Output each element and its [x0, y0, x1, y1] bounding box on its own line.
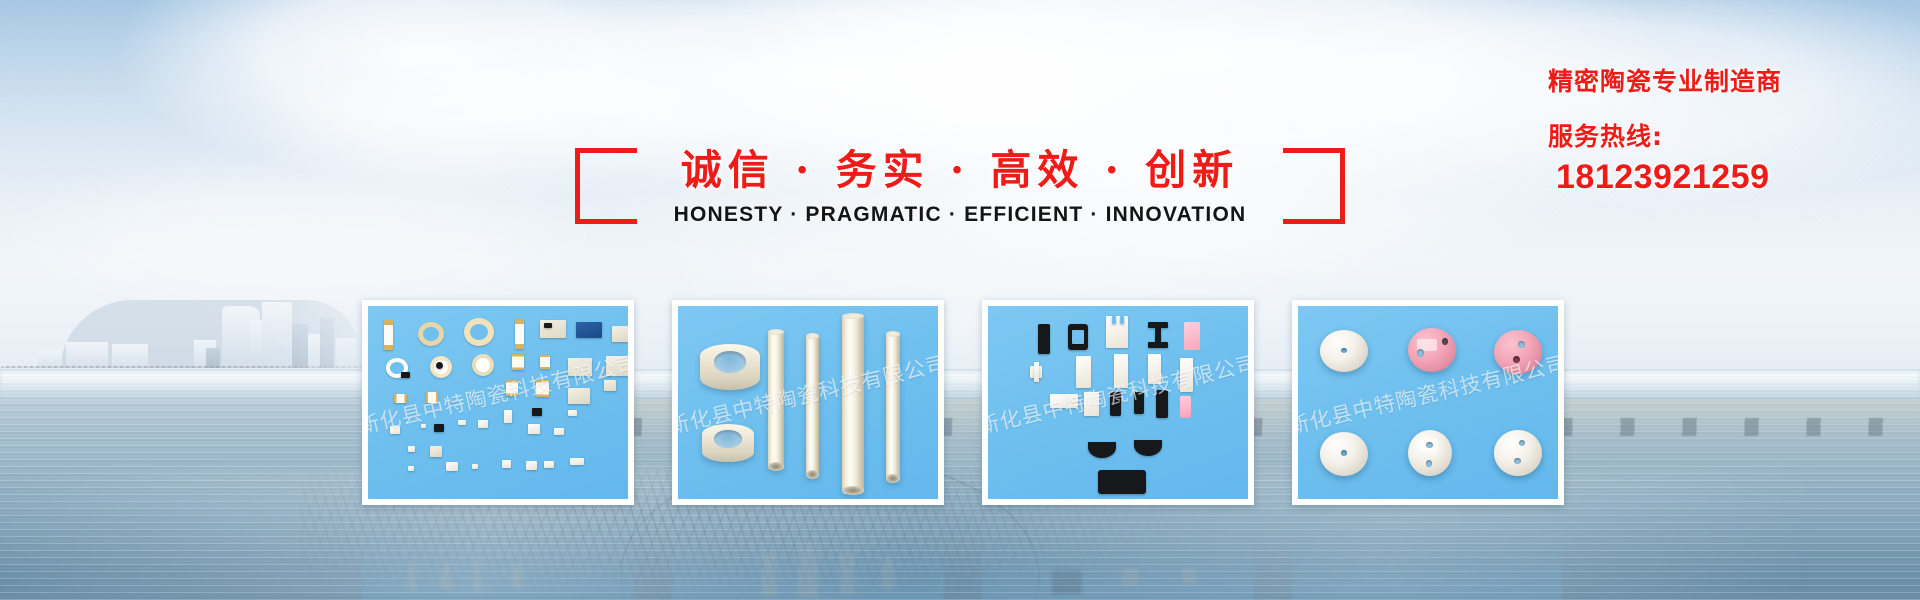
product-panel-2[interactable]: 新化县中特陶瓷科技有限公司	[672, 300, 944, 505]
product-panel-1[interactable]: 新化县中特陶瓷科技有限公司	[362, 300, 634, 505]
product-panel-row: 新化县中特陶瓷科技有限公司 新化县中特陶瓷科技有限公司	[362, 300, 1562, 505]
hotline-number[interactable]: 18123921259	[1556, 158, 1848, 197]
hero-banner: 诚信 · 务实 · 高效 · 创新 HONESTY · PRAGMATIC · …	[0, 0, 1920, 600]
contact-block: 精密陶瓷专业制造商 服务热线: 18123921259	[1548, 62, 1848, 197]
company-tagline: 精密陶瓷专业制造商	[1548, 62, 1848, 98]
city-skyline	[0, 268, 420, 378]
product-photo-3: 新化县中特陶瓷科技有限公司	[988, 306, 1248, 499]
slogan-block: 诚信 · 务实 · 高效 · 创新 HONESTY · PRAGMATIC · …	[575, 140, 1345, 240]
product-panel-4[interactable]: 新化县中特陶瓷科技有限公司	[1292, 300, 1564, 505]
slogan-english: HONESTY · PRAGMATIC · EFFICIENT · INNOVA…	[575, 203, 1345, 227]
hotline-label: 服务热线:	[1548, 117, 1848, 153]
product-photo-2: 新化县中特陶瓷科技有限公司	[678, 306, 938, 499]
product-photo-4: 新化县中特陶瓷科技有限公司	[1298, 306, 1558, 499]
product-panel-3[interactable]: 新化县中特陶瓷科技有限公司	[982, 300, 1254, 505]
slogan-chinese: 诚信 · 务实 · 高效 · 创新	[575, 136, 1345, 196]
product-photo-1: 新化县中特陶瓷科技有限公司	[368, 306, 628, 499]
